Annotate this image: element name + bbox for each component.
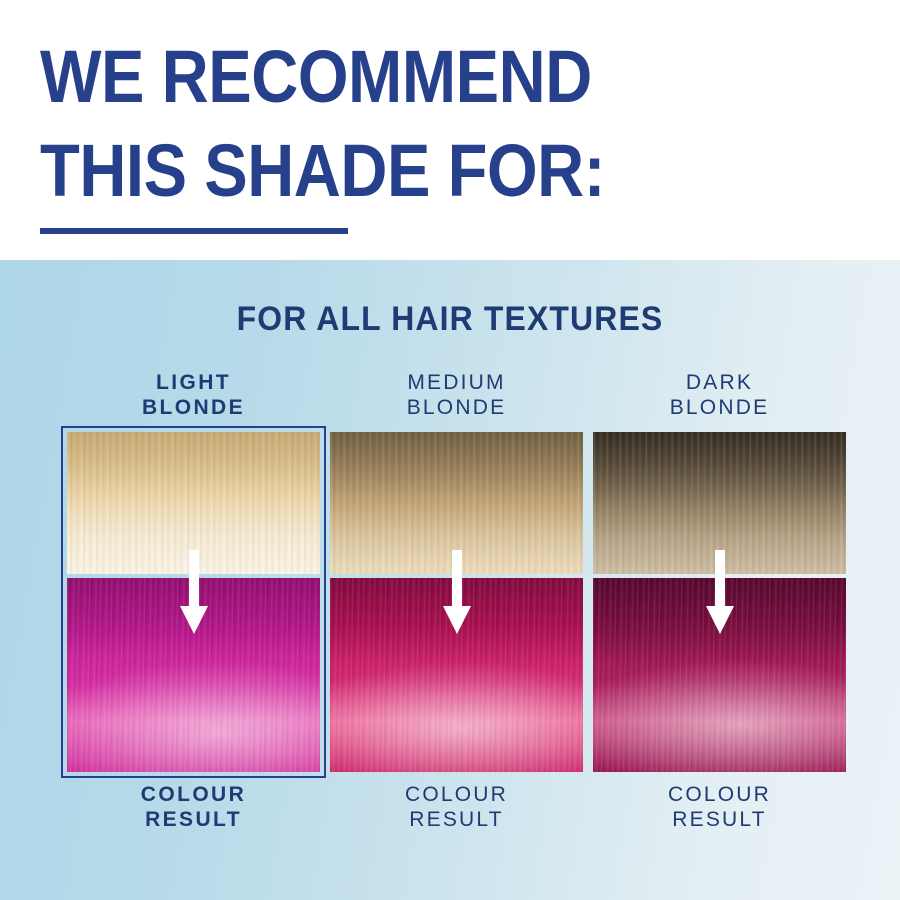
- result-label-line2: RESULT: [593, 807, 846, 832]
- texture-label-dark-blonde: DARK BLONDE: [593, 370, 846, 424]
- hair-strand-texture: [593, 432, 846, 574]
- result-label-line2: RESULT: [330, 807, 583, 832]
- hair-swatch-after-medium-blonde: [330, 578, 583, 772]
- swatch-stack-medium-blonde: [330, 432, 583, 772]
- headline-line-1: WE RECOMMEND: [40, 40, 592, 114]
- hair-strand-texture: [330, 432, 583, 574]
- hair-strand-texture: [67, 432, 320, 574]
- swatch-stack-dark-blonde: [593, 432, 846, 772]
- texture-label-light-blonde: LIGHT BLONDE: [67, 370, 320, 424]
- texture-section-title: FOR ALL HAIR TEXTURES: [27, 300, 873, 339]
- texture-label-line2: BLONDE: [330, 395, 583, 420]
- headline-line-2: THIS SHADE FOR:: [40, 134, 605, 208]
- headline-panel: WE RECOMMEND THIS SHADE FOR:: [0, 0, 900, 260]
- hair-strand-texture: [330, 578, 583, 772]
- result-label-line2: RESULT: [67, 807, 320, 832]
- texture-label-line1: MEDIUM: [330, 370, 583, 395]
- result-label-line1: COLOUR: [593, 782, 846, 807]
- hair-swatch-before-dark-blonde: [593, 432, 846, 574]
- result-label-light-blonde: COLOUR RESULT: [67, 782, 320, 838]
- hair-swatch-after-light-blonde: [67, 578, 320, 772]
- texture-label-line1: LIGHT: [67, 370, 320, 395]
- swatch-stack-light-blonde: [67, 432, 320, 772]
- swatch-column-light-blonde[interactable]: LIGHT BLONDE: [67, 370, 320, 850]
- shade-recommendation-card: WE RECOMMEND THIS SHADE FOR: FOR ALL HAI…: [0, 0, 900, 900]
- texture-label-line2: BLONDE: [593, 395, 846, 420]
- hair-swatch-before-medium-blonde: [330, 432, 583, 574]
- texture-label-line2: BLONDE: [67, 395, 320, 420]
- swatch-column-medium-blonde[interactable]: MEDIUM BLONDE: [330, 370, 583, 850]
- result-label-dark-blonde: COLOUR RESULT: [593, 782, 846, 838]
- texture-label-line1: DARK: [593, 370, 846, 395]
- texture-panel: FOR ALL HAIR TEXTURES LIGHT BLONDE: [0, 260, 900, 900]
- swatch-column-dark-blonde[interactable]: DARK BLONDE: [593, 370, 846, 850]
- result-label-line1: COLOUR: [330, 782, 583, 807]
- hair-swatch-after-dark-blonde: [593, 578, 846, 772]
- hair-swatch-before-light-blonde: [67, 432, 320, 574]
- texture-label-medium-blonde: MEDIUM BLONDE: [330, 370, 583, 424]
- result-label-line1: COLOUR: [67, 782, 320, 807]
- result-label-medium-blonde: COLOUR RESULT: [330, 782, 583, 838]
- headline-underline-rule: [40, 228, 348, 234]
- hair-strand-texture: [593, 578, 846, 772]
- swatch-grid: LIGHT BLONDE: [67, 370, 837, 850]
- hair-strand-texture: [67, 578, 320, 772]
